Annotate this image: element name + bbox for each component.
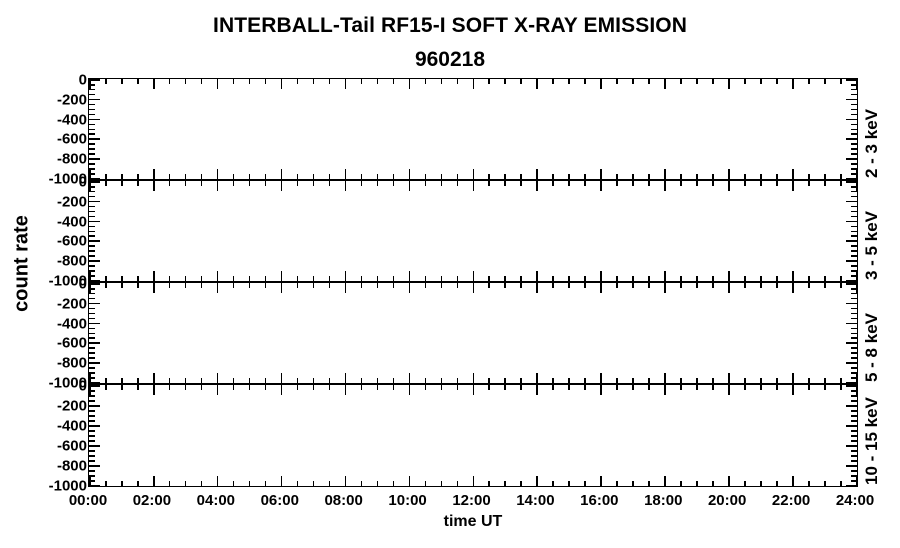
y-axis-minor-tick	[851, 114, 857, 116]
y-axis-minor-tick	[89, 104, 95, 106]
x-axis-minor-tick	[233, 481, 235, 486]
x-axis-minor-tick	[457, 276, 459, 281]
x-axis-minor-tick	[632, 385, 634, 390]
y-axis-minor-tick	[851, 440, 857, 442]
y-axis-minor-tick	[851, 328, 857, 330]
x-axis-major-tick	[217, 283, 219, 293]
x-axis-minor-tick	[584, 181, 586, 186]
x-axis-major-tick	[473, 169, 475, 179]
y-axis-minor-tick	[89, 308, 95, 310]
x-axis-minor-tick	[696, 79, 698, 84]
x-axis-minor-tick	[329, 181, 331, 186]
x-axis-major-tick	[281, 385, 283, 395]
x-axis-minor-tick	[696, 276, 698, 281]
x-axis-minor-tick	[648, 385, 650, 390]
x-axis-major-tick	[89, 271, 91, 281]
x-axis-minor-tick	[520, 385, 522, 390]
y-axis-minor-tick	[851, 148, 857, 150]
x-axis-minor-tick	[552, 79, 554, 84]
x-axis-minor-tick	[169, 174, 171, 179]
x-axis-minor-tick	[265, 174, 267, 179]
x-axis-minor-tick	[377, 181, 379, 186]
y-axis-major-tick	[846, 240, 857, 242]
x-axis-minor-tick	[552, 276, 554, 281]
x-axis-minor-tick	[616, 378, 618, 383]
x-axis-major-tick	[600, 385, 602, 395]
x-axis-minor-tick	[584, 276, 586, 281]
x-axis-major-tick	[536, 283, 538, 293]
y-axis-tick-label: -800	[5, 459, 87, 474]
y-axis-tick-label: -600	[5, 336, 87, 351]
y-axis-minor-tick	[89, 148, 95, 150]
y-axis-tick-label: -200	[5, 399, 87, 414]
x-axis-minor-tick	[233, 181, 235, 186]
x-axis-minor-tick	[185, 79, 187, 84]
x-axis-minor-tick	[680, 385, 682, 390]
y-axis-tick-labels: -1000-800-600-400-2000	[5, 283, 87, 385]
x-axis-minor-tick	[504, 79, 506, 84]
x-axis-minor-tick	[840, 276, 842, 281]
y-axis-minor-tick	[89, 337, 95, 339]
y-axis-tick-label: -200	[5, 296, 87, 311]
x-axis-minor-tick	[105, 378, 107, 383]
x-axis-minor-tick	[361, 481, 363, 486]
x-axis-minor-tick	[504, 378, 506, 383]
x-axis-minor-tick	[249, 174, 251, 179]
y-axis-major-tick	[89, 79, 100, 81]
y-axis-minor-tick	[89, 245, 95, 247]
y-axis-major-tick	[89, 382, 100, 383]
y-axis-minor-tick	[851, 153, 857, 155]
x-axis-minor-tick	[313, 385, 315, 390]
y-axis-minor-tick	[89, 250, 95, 252]
x-axis-minor-tick	[648, 283, 650, 288]
x-axis-minor-tick	[616, 181, 618, 186]
y-axis-tick-label: -800	[5, 356, 87, 371]
x-axis-minor-tick	[169, 378, 171, 383]
x-axis-minor-tick	[648, 79, 650, 84]
x-axis-major-tick	[217, 79, 219, 89]
y-axis-minor-tick	[89, 89, 95, 91]
y-axis-major-tick	[846, 158, 857, 160]
y-axis-major-tick	[846, 362, 857, 364]
x-axis-major-tick	[409, 181, 411, 191]
x-axis-minor-tick	[616, 385, 618, 390]
y-axis-minor-tick	[89, 420, 95, 422]
x-axis-minor-tick	[808, 181, 810, 186]
x-axis-major-tick	[345, 79, 347, 89]
x-axis-major-tick	[281, 169, 283, 179]
x-axis-minor-tick	[265, 79, 267, 84]
y-axis-minor-tick	[89, 255, 95, 257]
x-axis-minor-tick	[552, 385, 554, 390]
y-axis-minor-tick	[89, 415, 95, 417]
x-axis-minor-tick	[265, 181, 267, 186]
x-axis-major-tick	[600, 373, 602, 383]
x-axis-major-tick	[409, 385, 411, 395]
x-axis-minor-tick	[488, 283, 490, 288]
x-axis-major-tick	[728, 283, 730, 293]
x-axis-minor-tick	[648, 378, 650, 383]
y-axis-minor-tick	[851, 420, 857, 422]
x-axis-minor-tick	[824, 378, 826, 383]
x-axis-minor-tick	[393, 385, 395, 390]
x-axis-major-tick	[473, 476, 475, 486]
y-axis-minor-tick	[851, 216, 857, 218]
x-axis-major-tick	[728, 476, 730, 486]
y-axis-tick-labels: -1000-800-600-400-2000	[5, 385, 87, 487]
y-axis-minor-tick	[89, 318, 95, 320]
x-axis-minor-tick	[744, 79, 746, 84]
y-axis-major-tick	[89, 445, 100, 447]
x-axis-minor-tick	[760, 276, 762, 281]
x-axis-minor-tick	[680, 79, 682, 84]
y-axis-minor-tick	[851, 293, 857, 295]
x-axis-minor-tick	[441, 385, 443, 390]
y-axis-minor-tick	[851, 191, 857, 193]
y-axis-minor-tick	[89, 410, 95, 412]
plot-panel: -1000-800-600-400-2000	[88, 384, 858, 487]
x-axis-minor-tick	[552, 481, 554, 486]
y-axis-minor-tick	[851, 255, 857, 257]
x-axis-major-tick	[473, 271, 475, 281]
y-axis-minor-tick	[89, 352, 95, 354]
x-axis-minor-tick	[776, 181, 778, 186]
x-axis-major-tick	[281, 79, 283, 89]
x-axis-major-tick	[536, 181, 538, 191]
y-axis-minor-tick	[89, 94, 95, 96]
x-axis-minor-tick	[457, 79, 459, 84]
y-axis-minor-tick	[851, 129, 857, 131]
x-axis-minor-tick	[776, 481, 778, 486]
x-axis-major-tick	[153, 385, 155, 395]
x-axis-minor-tick	[297, 385, 299, 390]
x-axis-tick-label: 04:00	[197, 492, 235, 509]
y-axis-major-tick	[89, 385, 100, 387]
x-axis-minor-tick	[297, 79, 299, 84]
x-axis-tick-label: 08:00	[324, 492, 362, 509]
x-axis-minor-tick	[584, 174, 586, 179]
x-axis-minor-tick	[744, 276, 746, 281]
x-axis-minor-tick	[441, 283, 443, 288]
x-axis-minor-tick	[137, 283, 139, 288]
x-axis-minor-tick	[520, 79, 522, 84]
x-axis-minor-tick	[329, 378, 331, 383]
y-axis-tick-label: -400	[5, 214, 87, 229]
panel-stack: -1000-800-600-400-2000-1000-800-600-400-…	[88, 78, 858, 487]
x-axis-minor-tick	[169, 276, 171, 281]
x-axis-major-tick	[792, 169, 794, 179]
x-axis-minor-tick	[201, 276, 203, 281]
x-axis-minor-tick	[425, 283, 427, 288]
x-axis-major-tick	[792, 79, 794, 89]
y-axis-major-tick	[89, 119, 100, 121]
y-axis-minor-tick	[851, 206, 857, 208]
x-axis-minor-tick	[584, 481, 586, 486]
x-axis-minor-tick	[808, 174, 810, 179]
y-axis-major-tick	[89, 221, 100, 223]
x-axis-major-tick	[153, 271, 155, 281]
x-axis-major-tick	[728, 181, 730, 191]
x-axis-minor-tick	[760, 378, 762, 383]
x-axis-minor-tick	[265, 385, 267, 390]
y-axis-minor-tick	[89, 313, 95, 315]
y-axis-minor-tick	[851, 435, 857, 437]
x-axis-minor-tick	[201, 181, 203, 186]
x-axis-major-tick	[409, 169, 411, 179]
x-axis-major-tick	[409, 476, 411, 486]
x-axis-minor-tick	[121, 174, 123, 179]
x-axis-minor-tick	[712, 181, 714, 186]
x-axis-major-tick	[856, 271, 857, 281]
y-axis-minor-tick	[89, 163, 95, 165]
x-axis-minor-tick	[137, 385, 139, 390]
x-axis-minor-tick	[696, 481, 698, 486]
x-axis-major-tick	[89, 476, 91, 486]
y-axis-minor-tick	[89, 357, 95, 359]
x-axis-minor-tick	[632, 276, 634, 281]
x-axis-minor-tick	[808, 378, 810, 383]
y-axis-minor-tick	[851, 415, 857, 417]
x-axis-minor-tick	[504, 174, 506, 179]
x-axis-minor-tick	[249, 283, 251, 288]
x-axis-minor-tick	[425, 385, 427, 390]
x-axis-minor-tick	[744, 174, 746, 179]
y-axis-major-tick	[89, 240, 100, 242]
x-axis-minor-tick	[105, 79, 107, 84]
y-axis-tick-label: -600	[5, 132, 87, 147]
y-axis-major-tick	[89, 425, 100, 427]
y-axis-major-tick	[846, 221, 857, 223]
x-axis-minor-tick	[361, 385, 363, 390]
x-axis-minor-tick	[648, 174, 650, 179]
y-axis-major-tick	[846, 323, 857, 325]
x-axis-major-tick	[281, 476, 283, 486]
x-axis-major-tick	[536, 373, 538, 383]
x-axis-minor-tick	[808, 276, 810, 281]
x-axis-minor-tick	[696, 181, 698, 186]
x-axis-major-tick	[89, 373, 91, 383]
y-axis-minor-tick	[89, 216, 95, 218]
x-axis-minor-tick	[568, 174, 570, 179]
x-axis-minor-tick	[648, 181, 650, 186]
x-axis-minor-tick	[185, 181, 187, 186]
y-axis-major-tick	[846, 201, 857, 203]
x-axis-minor-tick	[712, 174, 714, 179]
x-axis-minor-tick	[265, 283, 267, 288]
y-axis-minor-tick	[851, 235, 857, 237]
x-axis-minor-tick	[185, 378, 187, 383]
x-axis-minor-tick	[265, 481, 267, 486]
x-axis-major-tick	[536, 476, 538, 486]
x-axis-minor-tick	[552, 378, 554, 383]
y-axis-minor-tick	[851, 143, 857, 145]
x-axis-minor-tick	[377, 174, 379, 179]
x-axis-minor-tick	[169, 385, 171, 390]
y-axis-major-tick	[89, 158, 100, 160]
y-axis-minor-tick	[851, 357, 857, 359]
x-axis-minor-tick	[488, 181, 490, 186]
y-axis-major-tick	[846, 342, 857, 344]
x-axis-minor-tick	[808, 79, 810, 84]
x-axis-minor-tick	[616, 283, 618, 288]
y-axis-minor-tick	[89, 470, 95, 472]
x-axis-minor-tick	[169, 283, 171, 288]
y-axis-minor-tick	[89, 114, 95, 116]
x-axis-minor-tick	[840, 378, 842, 383]
y-axis-minor-tick	[89, 231, 95, 233]
y-axis-minor-tick	[851, 226, 857, 228]
x-axis-tick-label: 24:00	[836, 492, 874, 509]
x-axis-minor-tick	[568, 378, 570, 383]
x-axis-title: time UT	[88, 513, 858, 531]
x-axis-minor-tick	[377, 276, 379, 281]
x-axis-minor-tick	[313, 174, 315, 179]
x-axis-major-tick	[664, 169, 666, 179]
x-axis-major-tick	[856, 373, 857, 383]
x-axis-major-tick	[473, 385, 475, 395]
x-axis-minor-tick	[776, 79, 778, 84]
x-axis-minor-tick	[297, 276, 299, 281]
y-axis-minor-tick	[851, 133, 857, 135]
x-axis-minor-tick	[329, 79, 331, 84]
x-axis-minor-tick	[808, 283, 810, 288]
x-axis-minor-tick	[393, 79, 395, 84]
x-axis-minor-tick	[377, 481, 379, 486]
x-axis-minor-tick	[425, 481, 427, 486]
y-axis-minor-tick	[89, 191, 95, 193]
x-axis-minor-tick	[297, 283, 299, 288]
y-axis-minor-tick	[851, 333, 857, 335]
x-axis-minor-tick	[744, 481, 746, 486]
x-axis-minor-tick	[249, 276, 251, 281]
x-axis-minor-tick	[233, 385, 235, 390]
y-axis-tick-label: -600	[5, 234, 87, 249]
x-axis-minor-tick	[105, 283, 107, 288]
x-axis-minor-tick	[313, 378, 315, 383]
y-axis-major-tick	[89, 201, 100, 203]
x-axis-major-tick	[281, 373, 283, 383]
x-axis-minor-tick	[840, 181, 842, 186]
x-axis-minor-tick	[632, 181, 634, 186]
x-axis-minor-tick	[648, 481, 650, 486]
y-axis-major-tick	[89, 178, 100, 179]
y-axis-tick-labels: -1000-800-600-400-2000	[5, 181, 87, 283]
y-axis-minor-tick	[851, 395, 857, 397]
y-axis-major-tick	[846, 425, 857, 427]
y-axis-minor-tick	[851, 231, 857, 233]
x-axis-minor-tick	[457, 283, 459, 288]
y-axis-minor-tick	[89, 430, 95, 432]
x-axis-minor-tick	[712, 283, 714, 288]
x-axis-minor-tick	[680, 378, 682, 383]
x-axis-minor-tick	[840, 174, 842, 179]
x-axis-minor-tick	[648, 276, 650, 281]
x-axis-major-tick	[281, 271, 283, 281]
x-axis-minor-tick	[520, 378, 522, 383]
y-axis-minor-tick	[89, 265, 95, 267]
y-axis-minor-tick	[89, 226, 95, 228]
x-axis-minor-tick	[233, 378, 235, 383]
y-axis-tick-label: 0	[5, 277, 87, 292]
x-axis-tick-label: 18:00	[644, 492, 682, 509]
x-axis-major-tick	[345, 385, 347, 395]
x-axis-minor-tick	[313, 283, 315, 288]
x-axis-major-tick	[345, 181, 347, 191]
x-axis-minor-tick	[361, 378, 363, 383]
x-axis-minor-tick	[520, 481, 522, 486]
x-axis-minor-tick	[377, 283, 379, 288]
x-axis-major-tick	[728, 79, 730, 89]
x-axis-major-tick	[536, 79, 538, 89]
y-axis-minor-tick	[851, 250, 857, 252]
x-axis-minor-tick	[105, 481, 107, 486]
x-axis-minor-tick	[488, 385, 490, 390]
x-axis-minor-tick	[760, 181, 762, 186]
x-axis-minor-tick	[488, 79, 490, 84]
x-axis-minor-tick	[425, 276, 427, 281]
x-axis-minor-tick	[233, 283, 235, 288]
y-axis-minor-tick	[851, 352, 857, 354]
y-axis-major-tick	[846, 260, 857, 262]
x-axis-major-tick	[153, 169, 155, 179]
y-axis-minor-tick	[851, 410, 857, 412]
x-axis-minor-tick	[584, 385, 586, 390]
x-axis-minor-tick	[297, 481, 299, 486]
x-axis-major-tick	[217, 385, 219, 395]
y-axis-minor-tick	[851, 313, 857, 315]
x-axis-major-tick	[473, 283, 475, 293]
x-axis-major-tick	[536, 385, 538, 395]
x-axis-minor-tick	[680, 276, 682, 281]
x-axis-major-tick	[153, 476, 155, 486]
y-axis-minor-tick	[851, 400, 857, 402]
x-axis-minor-tick	[696, 385, 698, 390]
y-axis-minor-tick	[851, 337, 857, 339]
x-axis-major-tick	[345, 283, 347, 293]
x-axis-minor-tick	[808, 385, 810, 390]
x-axis-major-tick	[664, 373, 666, 383]
x-axis-minor-tick	[568, 181, 570, 186]
x-axis-major-tick	[792, 181, 794, 191]
x-axis-minor-tick	[712, 276, 714, 281]
x-axis-minor-tick	[121, 79, 123, 84]
y-axis-tick-label: 0	[5, 175, 87, 190]
x-axis-major-tick	[664, 385, 666, 395]
x-axis-major-tick	[153, 181, 155, 191]
x-axis-minor-tick	[297, 378, 299, 383]
x-axis-minor-tick	[121, 378, 123, 383]
y-axis-tick-label: 0	[5, 379, 87, 394]
chart-title: INTERBALL-Tail RF15-I SOFT X-RAY EMISSIO…	[0, 14, 900, 38]
x-axis-major-tick	[664, 79, 666, 89]
x-axis-tick-label: 10:00	[388, 492, 426, 509]
x-axis-minor-tick	[776, 385, 778, 390]
x-axis-minor-tick	[712, 378, 714, 383]
x-axis-minor-tick	[185, 276, 187, 281]
x-axis-minor-tick	[105, 385, 107, 390]
x-axis-minor-tick	[313, 181, 315, 186]
x-axis-tick-label: 14:00	[516, 492, 554, 509]
x-axis-major-tick	[281, 181, 283, 191]
x-axis-minor-tick	[441, 378, 443, 383]
x-axis-major-tick	[217, 169, 219, 179]
x-axis-tick-label: 16:00	[580, 492, 618, 509]
x-axis-minor-tick	[712, 385, 714, 390]
y-axis-major-tick	[89, 181, 100, 183]
y-axis-minor-tick	[851, 196, 857, 198]
x-axis-minor-tick	[425, 378, 427, 383]
